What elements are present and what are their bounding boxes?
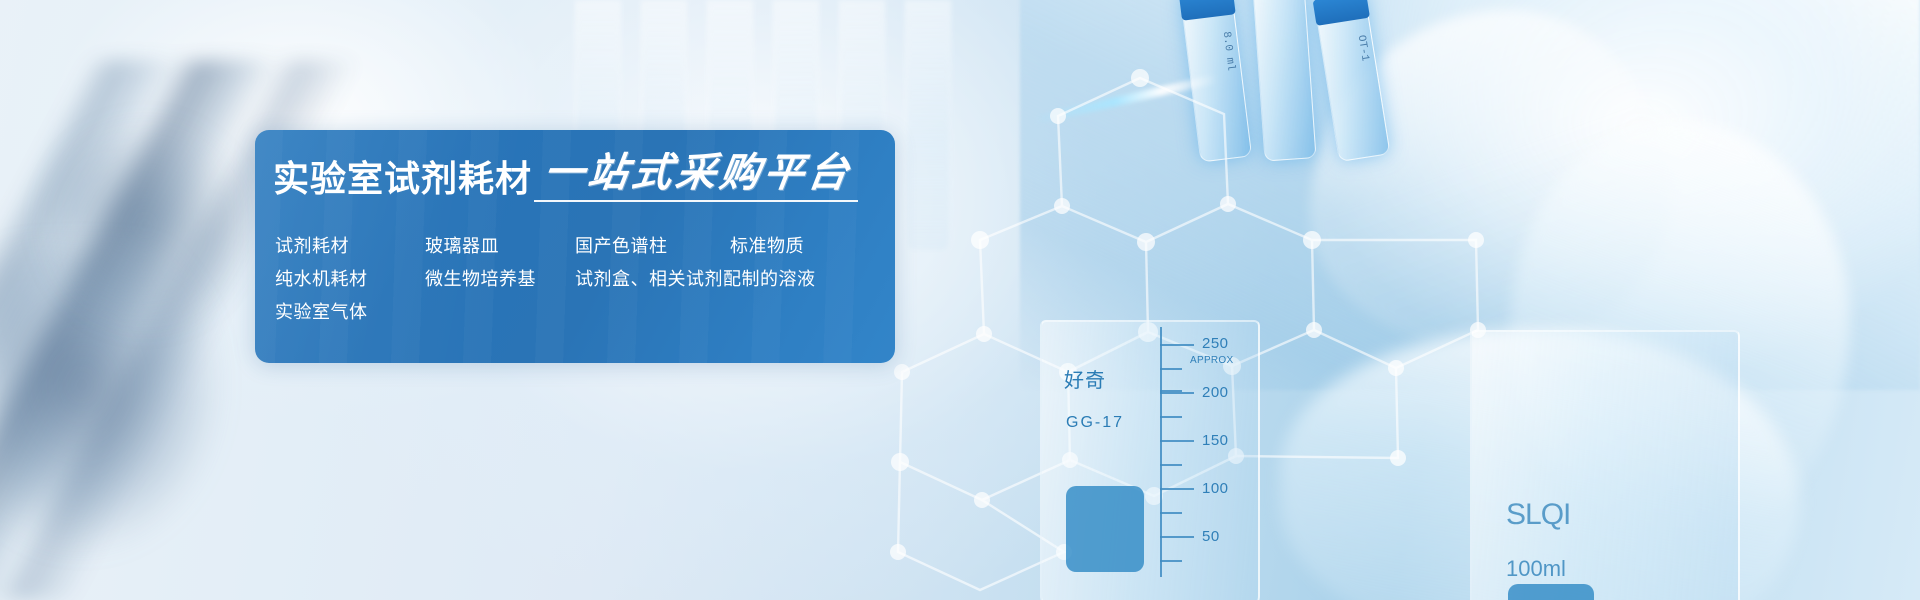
category-item-reference-material[interactable]: 标准物质 [730, 236, 870, 258]
category-row: 纯水机耗材 微生物培养基 试剂盒、相关试剂配制的溶液 [275, 263, 875, 296]
beaker-left-graduation-scale: 250 APPROX 200 150 100 50 [1160, 322, 1260, 600]
vial-label-2: OT-1 [1327, 34, 1371, 66]
category-item-laboratory-gas[interactable]: 实验室气体 [275, 302, 425, 324]
vial-label-1: 8.0 ml [1192, 31, 1237, 75]
graduation-50: 50 [1202, 528, 1220, 545]
category-row: 实验室气体 [275, 296, 875, 329]
graduation-250: 250 [1202, 335, 1229, 352]
beaker-right: SLQI 100ml [1470, 330, 1740, 600]
category-item-glassware[interactable]: 玻璃器皿 [425, 236, 575, 258]
vial-2 [1251, 0, 1316, 162]
beaker-left-brand-cn: 好奇 [1064, 364, 1106, 393]
beaker-right-volume: 100ml [1506, 556, 1566, 582]
background-blur-shape-left-upper [40, 120, 250, 330]
category-row: 试剂耗材 玻璃器皿 国产色谱柱 标准物质 [275, 230, 875, 263]
vial-3: OT-1 [1313, 0, 1390, 162]
graduation-200: 200 [1202, 384, 1229, 401]
beaker-left-brand-code: GG-17 [1066, 414, 1124, 432]
category-item-reagent-kits-solutions[interactable]: 试剂盒、相关试剂配制的溶液 [575, 269, 816, 291]
category-item-domestic-chromatography-column[interactable]: 国产色谱柱 [575, 236, 730, 258]
title-underline [534, 200, 858, 202]
category-list: 试剂耗材 玻璃器皿 国产色谱柱 标准物质 纯水机耗材 微生物培养基 试剂盒、相关… [275, 230, 875, 329]
vial-cap-1 [1179, 0, 1236, 21]
beaker-right-brand: SLQI [1506, 498, 1570, 532]
beaker-left: 好奇 GG-17 250 APPROX 200 150 100 50 [1040, 320, 1260, 600]
beaker-left-label-patch [1066, 486, 1144, 572]
graduation-100: 100 [1202, 480, 1229, 497]
promo-panel: 实验室试剂耗材 一站式采购平台 试剂耗材 玻璃器皿 国产色谱柱 标准物质 纯水机… [255, 130, 895, 363]
lab-reagent-banner: 8.0 ml OT-1 [0, 0, 1920, 600]
title-main-text: 实验室试剂耗材 [273, 160, 532, 200]
vial-cap-3 [1313, 0, 1370, 26]
category-item-water-purifier-consumables[interactable]: 纯水机耗材 [275, 269, 425, 291]
category-item-reagent-consumables[interactable]: 试剂耗材 [275, 236, 425, 258]
background-sample-vials: 8.0 ml OT-1 [1180, 0, 1440, 220]
beaker-right-label-patch [1508, 584, 1594, 600]
title-accent-wrap: 一站式采购平台 [544, 152, 852, 200]
graduation-approx-label: APPROX [1190, 355, 1233, 366]
graduation-150: 150 [1202, 432, 1229, 449]
title-accent-text: 一站式采购平台 [541, 152, 855, 194]
panel-title: 实验室试剂耗材 一站式采购平台 [273, 152, 852, 200]
category-item-microbial-culture-medium[interactable]: 微生物培养基 [425, 269, 575, 291]
